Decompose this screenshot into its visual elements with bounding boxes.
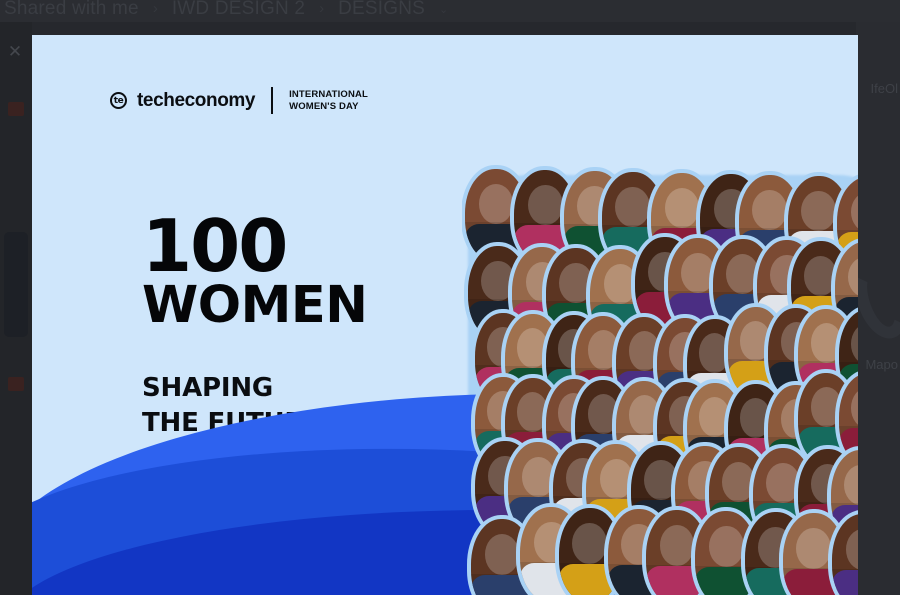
logo-wordmark: techeconomy (137, 90, 255, 112)
right-rail: IfeOl Mapo (856, 22, 900, 595)
rail-panel (4, 232, 28, 337)
right-label-mapo: Mapo (865, 358, 898, 371)
techeconomy-mark-icon: te (110, 92, 127, 109)
logo-divider (271, 87, 273, 114)
breadcrumb-item-shared-with-me[interactable]: Shared with me (4, 0, 139, 18)
breadcrumb-item-designs[interactable]: DESIGNS (338, 0, 425, 18)
close-icon[interactable]: ✕ (4, 40, 26, 62)
headline-lead-line-1: SHAPING (142, 373, 273, 403)
chevron-down-icon[interactable]: ⌄ (439, 3, 448, 16)
left-rail (0, 22, 32, 595)
logo-subtitle-line-2: WOMEN'S DAY (289, 101, 359, 112)
women-collage-image (462, 165, 858, 595)
right-label-ifeol: IfeOl (871, 82, 898, 95)
headline-noun: WOMEN (142, 280, 472, 331)
headline-number: 100 (142, 215, 472, 278)
breadcrumb: Shared with me › IWD DESIGN 2 › DESIGNS … (0, 0, 900, 22)
techeconomy-logo-lockup: te techeconomy INTERNATIONAL WOMEN'S DAY (110, 87, 368, 114)
logo-subtitle-line-1: INTERNATIONAL (289, 89, 368, 100)
rail-thumbnail-top[interactable] (8, 102, 24, 116)
breadcrumb-separator: › (319, 0, 324, 17)
rail-thumbnail-bottom[interactable] (8, 377, 24, 391)
breadcrumb-item-iwd-design-2[interactable]: IWD DESIGN 2 (172, 0, 305, 18)
design-preview-modal[interactable]: te techeconomy INTERNATIONAL WOMEN'S DAY… (32, 35, 858, 595)
logo-subtitle: INTERNATIONAL WOMEN'S DAY (289, 89, 368, 113)
breadcrumb-separator: › (153, 0, 158, 17)
